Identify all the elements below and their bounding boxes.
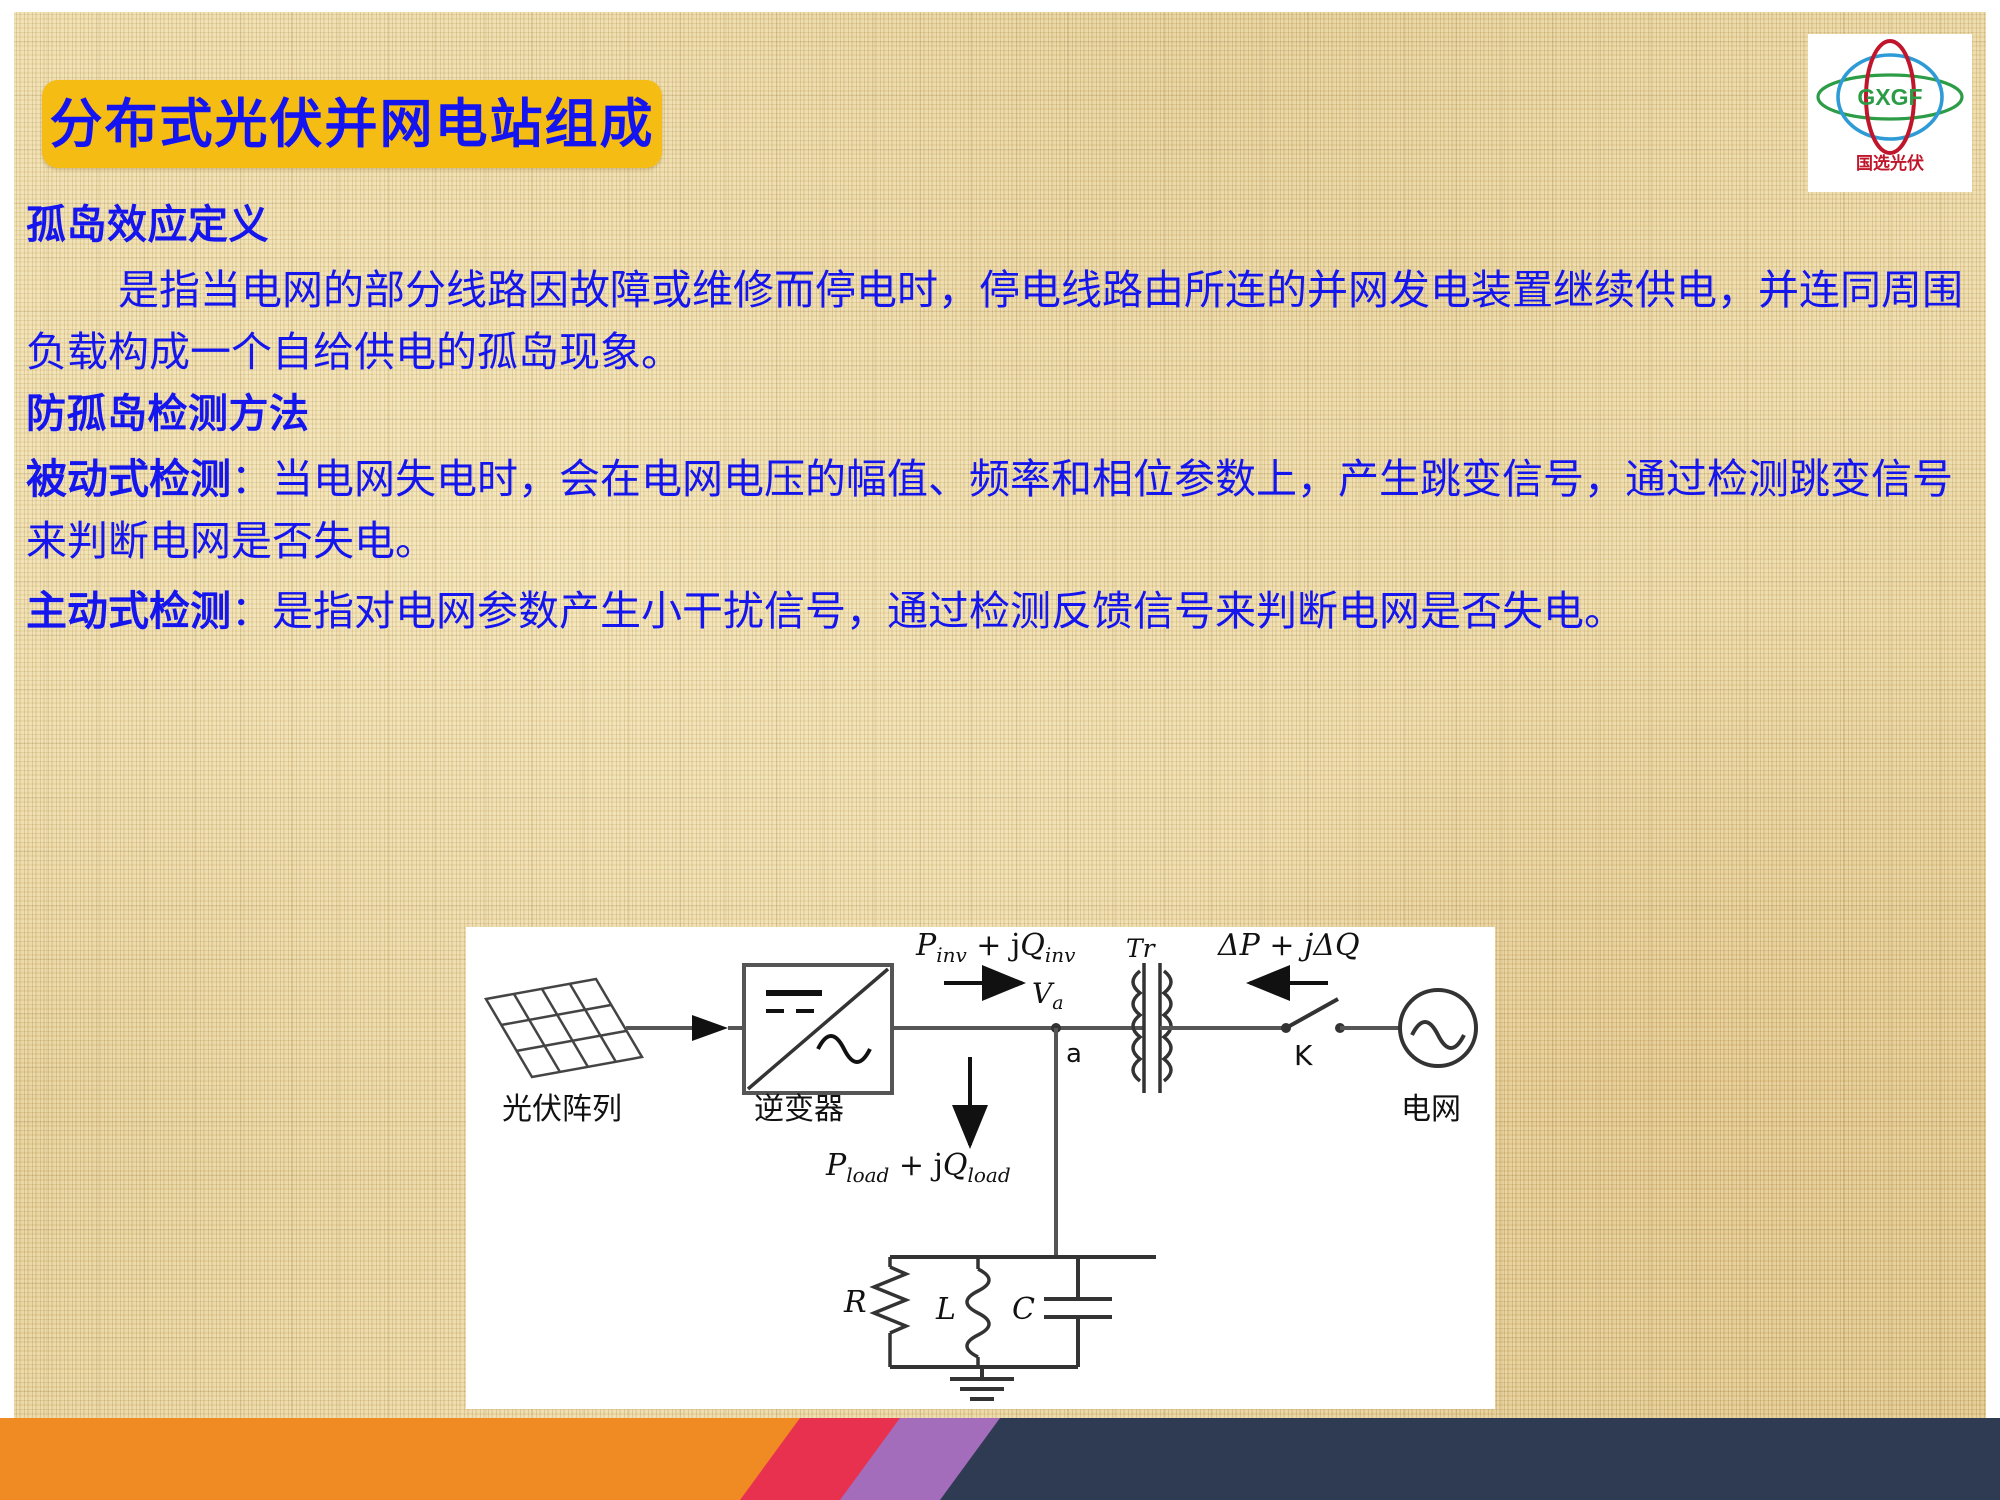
pv-array-icon bbox=[486, 979, 642, 1077]
bus-node-label: a bbox=[1066, 1039, 1082, 1069]
transformer-label: Tr bbox=[1126, 934, 1157, 963]
heading-anti-islanding-methods: 防孤岛检测方法 bbox=[26, 394, 1974, 434]
switch-label: K bbox=[1294, 1039, 1313, 1072]
frame-left-edge bbox=[0, 0, 14, 1500]
inverter-icon bbox=[744, 965, 892, 1093]
inductor-label: L bbox=[935, 1292, 956, 1327]
svg-text:ΔP + jΔQ: ΔP + jΔQ bbox=[1217, 928, 1360, 963]
svg-text:Pload + jQload: Pload + jQload bbox=[825, 1148, 1011, 1187]
capacitor-icon bbox=[1044, 1257, 1112, 1367]
bottom-decorative-band bbox=[0, 1418, 2000, 1500]
passive-detection-text: ：当电网失电时，会在电网电压的幅值、频率和相位参数上，产生跳变信号，通过检测跳变… bbox=[26, 455, 1953, 565]
active-detection-text: ：是指对电网参数产生小干扰信号，通过检测反馈信号来判断电网是否失电。 bbox=[231, 587, 1625, 635]
passive-detection-label: 被动式检测 bbox=[26, 455, 231, 503]
delta-power-annotation: ΔP + jΔQ bbox=[1217, 928, 1360, 983]
heading-island-effect-definition: 孤岛效应定义 bbox=[26, 205, 1974, 245]
bus-voltage-annotation: Va bbox=[1032, 977, 1064, 1014]
grid-source-icon bbox=[1400, 990, 1476, 1066]
inductor-icon bbox=[967, 1257, 989, 1367]
paragraph-1-text: 是指当电网的部分线路因故障或维修而停电时，停电线路由所连的并网发电装置继续供电，… bbox=[26, 266, 1963, 376]
p-inv-plus: + j bbox=[967, 928, 1021, 963]
frame-right-edge bbox=[1986, 0, 2000, 1500]
list-item-passive-detection: 被动式检测：当电网失电时，会在电网电压的幅值、频率和相位参数上，产生跳变信号，通… bbox=[26, 448, 1974, 573]
band-segment-navy bbox=[940, 1418, 2000, 1500]
paragraph-island-effect-definition: 是指当电网的部分线路因故障或维修而停电时，停电线路由所连的并网发电装置继续供电，… bbox=[26, 259, 1974, 384]
q-inv-sub: inv bbox=[1045, 943, 1076, 967]
svg-text:Pinv + jQinv: Pinv + jQinv bbox=[915, 928, 1076, 967]
globe-logo-icon: GXGF bbox=[1815, 38, 1965, 156]
capacitor-label: C bbox=[1012, 1292, 1035, 1327]
q-inv-symbol: Q bbox=[1020, 928, 1045, 963]
slide-title-badge: 分布式光伏并网电站组成 bbox=[42, 80, 662, 168]
logo-acronym-text: GXGF bbox=[1857, 84, 1922, 110]
page-title: 分布式光伏并网电站组成 bbox=[50, 98, 655, 151]
list-item-active-detection: 主动式检测：是指对电网参数产生小干扰信号，通过检测反馈信号来判断电网是否失电。 bbox=[26, 580, 1974, 642]
resistor-icon bbox=[874, 1257, 906, 1367]
frame-top-edge bbox=[0, 0, 2000, 12]
circuit-diagram: 光伏阵列 逆变器 Pinv + jQinv Va bbox=[466, 927, 1495, 1409]
flow-arrow-pv-to-inverter bbox=[692, 1015, 728, 1041]
switch-icon bbox=[1281, 999, 1406, 1033]
slide-body: 孤岛效应定义 是指当电网的部分线路因故障或维修而停电时，停电线路由所连的并网发电… bbox=[26, 205, 1974, 651]
resistor-label: R bbox=[843, 1285, 867, 1320]
logo-caption: 国选光伏 bbox=[1856, 156, 1924, 173]
grid-label: 电网 bbox=[1401, 1092, 1461, 1127]
p-inv-symbol: P bbox=[915, 928, 937, 963]
inverter-label: 逆变器 bbox=[754, 1092, 844, 1127]
ground-icon bbox=[950, 1367, 1014, 1399]
pv-array-label: 光伏阵列 bbox=[502, 1092, 622, 1127]
circuit-diagram-panel: 光伏阵列 逆变器 Pinv + jQinv Va bbox=[466, 927, 1495, 1409]
active-detection-label: 主动式检测 bbox=[26, 587, 231, 635]
inverter-power-annotation: Pinv + jQinv bbox=[915, 928, 1076, 983]
p-inv-sub: inv bbox=[936, 943, 967, 967]
company-logo: GXGF 国选光伏 bbox=[1808, 34, 1972, 192]
band-shapes bbox=[0, 1418, 2000, 1500]
